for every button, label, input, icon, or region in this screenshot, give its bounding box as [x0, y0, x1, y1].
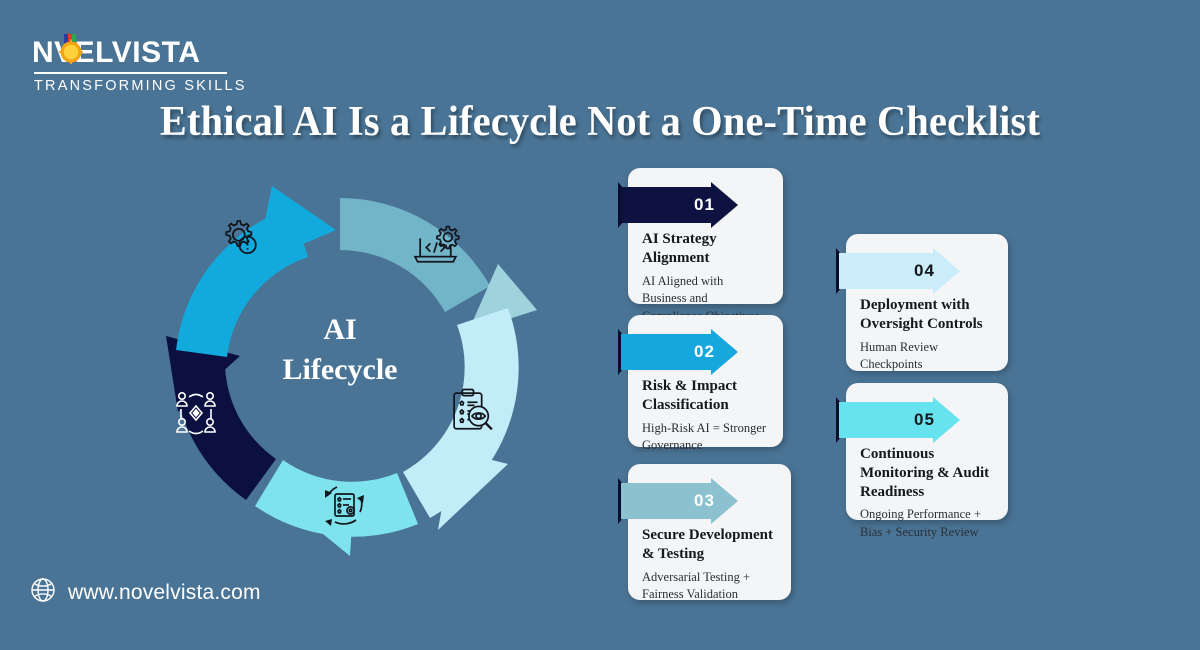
step-number-01: 01 [694, 182, 715, 228]
step-desc-05: Ongoing Performance + Bias + Security Re… [860, 506, 994, 542]
step-title-04: Deployment with Oversight Controls [860, 296, 994, 334]
ai-lifecycle-cycle-diagram: AI Lifecycle [100, 160, 580, 580]
infographic-canvas: NVELVISTA TRANSFORMING SKILLS Ethical AI… [0, 0, 1200, 650]
step-title-02: Risk & Impact Classification [642, 377, 769, 415]
step-title-01: AI Strategy Alignment [642, 230, 769, 268]
cycle-segment-deployment [166, 336, 276, 500]
step-number-02: 02 [694, 329, 715, 375]
step-number-05: 05 [914, 397, 935, 443]
step-number-04: 04 [914, 248, 935, 294]
step-card-01[interactable]: 01 AI Strategy Alignment AI Aligned with… [628, 168, 783, 304]
step-arrow-04 [836, 248, 960, 294]
step-title-03: Secure Development & Testing [642, 526, 777, 564]
cycle-segment-secure [255, 460, 418, 556]
step-card-05[interactable]: 05 Continuous Monitoring & Audit Readine… [846, 383, 1008, 520]
step-card-02[interactable]: 02 Risk & Impact Classification High-Ris… [628, 315, 783, 447]
step-desc-02: High-Risk AI = Stronger Governance [642, 420, 769, 456]
website-url: www.novelvista.com [68, 581, 261, 605]
step-body-01: AI Strategy Alignment AI Aligned with Bu… [628, 230, 783, 326]
step-arrow-01 [618, 182, 738, 228]
step-number-03: 03 [694, 478, 715, 524]
page-title: Ethical AI Is a Lifecycle Not a One-Time… [24, 98, 1176, 146]
step-card-04[interactable]: 04 Deployment with Oversight Controls Hu… [846, 234, 1008, 371]
step-desc-04: Human Review Checkpoints [860, 339, 994, 375]
step-body-05: Continuous Monitoring & Audit Readiness … [846, 445, 1008, 542]
medal-icon [58, 34, 84, 64]
step-card-03[interactable]: 03 Secure Development & Testing Adversar… [628, 464, 791, 600]
step-body-02: Risk & Impact Classification High-Risk A… [628, 377, 783, 455]
footer-website[interactable]: www.novelvista.com [30, 577, 261, 608]
globe-icon [30, 577, 56, 608]
step-desc-03: Adversarial Testing + Fairness Validatio… [642, 569, 777, 605]
step-title-05: Continuous Monitoring & Audit Readiness [860, 445, 994, 501]
step-body-03: Secure Development & Testing Adversarial… [628, 526, 791, 604]
logo-tagline: TRANSFORMING SKILLS [34, 78, 272, 94]
step-body-04: Deployment with Oversight Controls Human… [846, 296, 1008, 374]
brand-logo: NVELVISTA TRANSFORMING SKILLS [32, 38, 272, 94]
step-arrow-05 [836, 397, 960, 443]
logo-divider [34, 72, 227, 74]
cycle-segment-monitoring [176, 186, 336, 357]
logo-wordmark: NVELVISTA [32, 38, 272, 68]
step-arrow-02 [618, 329, 738, 375]
step-arrow-03 [618, 478, 738, 524]
